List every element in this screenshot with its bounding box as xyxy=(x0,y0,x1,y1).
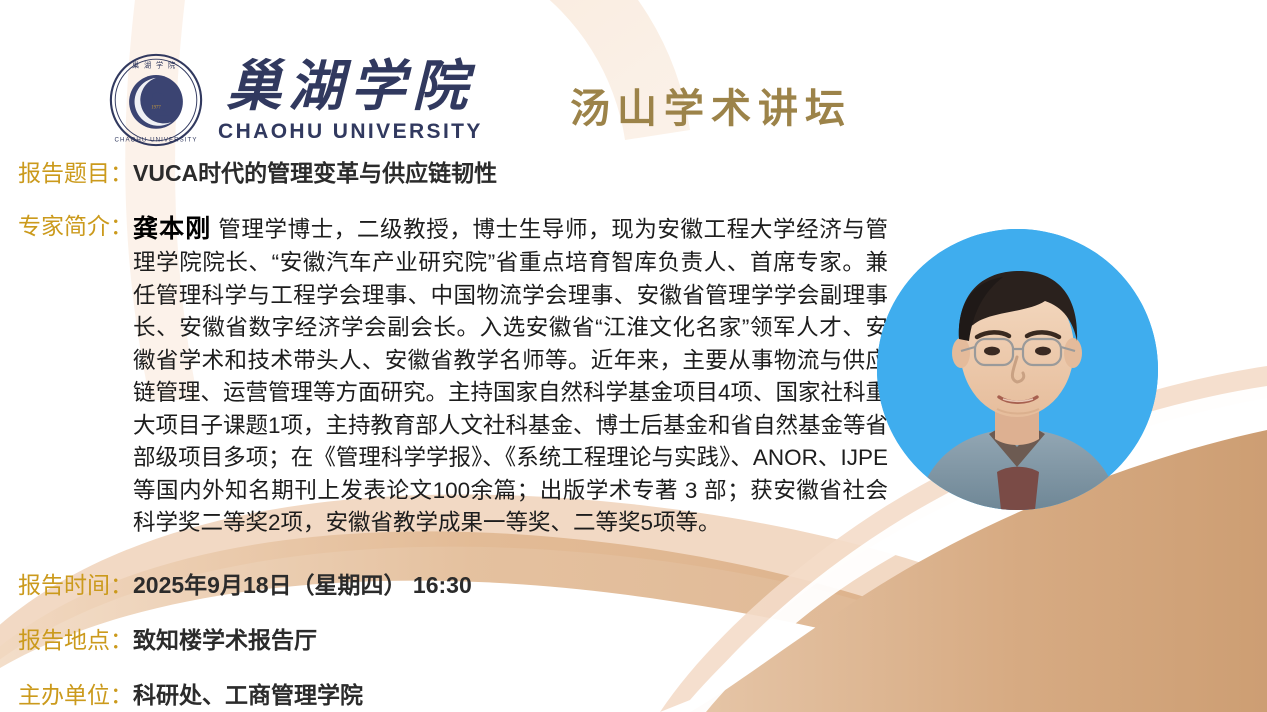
svg-text:巢湖学院: 巢湖学院 xyxy=(132,60,180,69)
report-title-label: 报告题目： xyxy=(18,158,133,190)
lecture-place-value: 致知楼学术报告厅 xyxy=(133,625,317,657)
lecture-time-label: 报告时间： xyxy=(18,570,133,602)
banner-divider xyxy=(874,84,876,126)
university-logo: 1977 巢湖学院 CHAOHU UNIVERSITY 巢湖学院 CHAOHU … xyxy=(108,52,483,148)
lecture-poster: 1977 巢湖学院 CHAOHU UNIVERSITY 巢湖学院 CHAOHU … xyxy=(0,0,1267,712)
speaker-bio-row: 专家简介： 龚本刚 管理学博士，二级教授，博士生导师，现为安徽工程大学经济与管理… xyxy=(18,211,888,540)
speaker-portrait xyxy=(877,229,1158,510)
lecture-host-value: 科研处、工商管理学院 xyxy=(133,680,363,712)
chaohu-university-seal-icon: 1977 巢湖学院 CHAOHU UNIVERSITY xyxy=(108,52,204,148)
university-name-en: CHAOHU UNIVERSITY xyxy=(218,121,483,142)
speaker-bio-paragraph: 管理学博士，二级教授，博士生导师，现为安徽工程大学经济与管理学院院长、“安徽汽车… xyxy=(133,217,888,535)
lecture-host-label: 主办单位： xyxy=(18,680,133,712)
speaker-portrait-photo xyxy=(877,229,1158,510)
svg-text:1977: 1977 xyxy=(151,106,161,111)
svg-text:CHAOHU UNIVERSITY: CHAOHU UNIVERSITY xyxy=(115,136,198,143)
speaker-name: 龚本刚 xyxy=(133,215,211,243)
banner-subtitle: 专家学者专场 xyxy=(902,84,1112,126)
lecture-host-row: 主办单位： 科研处、工商管理学院 xyxy=(18,680,363,712)
lecture-place-row: 报告地点： 致知楼学术报告厅 xyxy=(18,625,317,657)
report-title-row: 报告题目： VUCA时代的管理变革与供应链韧性 xyxy=(18,158,497,190)
banner-main-title: 汤山学术讲坛 xyxy=(570,76,852,134)
lecture-place-label: 报告地点： xyxy=(18,625,133,657)
speaker-bio-label: 专家简介： xyxy=(18,211,133,243)
report-title-value: VUCA时代的管理变革与供应链韧性 xyxy=(133,158,497,190)
lecture-time-value: 2025年9月18日（星期四） 16:30 xyxy=(133,570,472,602)
lecture-series-banner: 汤山学术讲坛 专家学者专场 xyxy=(456,68,1267,142)
speaker-bio-text: 龚本刚 管理学博士，二级教授，博士生导师，现为安徽工程大学经济与管理学院院长、“… xyxy=(133,211,888,540)
university-name-cn: 巢湖学院 xyxy=(226,59,474,114)
lecture-time-row: 报告时间： 2025年9月18日（星期四） 16:30 xyxy=(18,570,472,602)
